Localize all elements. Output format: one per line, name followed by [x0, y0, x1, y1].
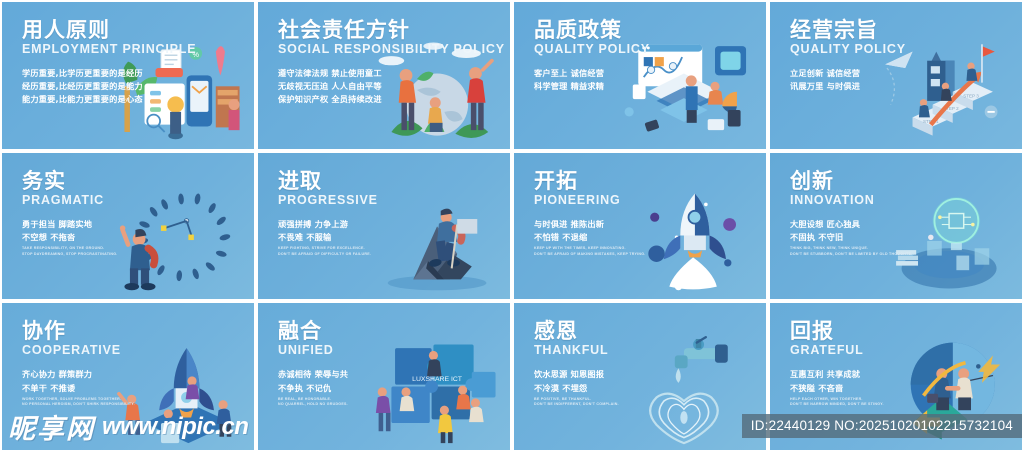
watermark-cn-text: 昵享网 [8, 407, 95, 446]
panel-en-title: COOPERATIVE [22, 344, 135, 358]
panel-cn-title: 经营宗旨 [790, 18, 906, 42]
panel-cn-subtitle: 赤诚相待 荣辱与共 不争执 不记仇 [278, 368, 348, 395]
panel-pragmatic[interactable]: 务实 PRAGMATIC 勇于担当 脚踏实地 不空想 不拖沓 TAKE RESP… [2, 153, 254, 300]
panel-text-block: 回报 GRATEFUL 互惠互利 共享成就 不狭隘 不吝啬 HELP EACH … [790, 319, 884, 408]
panel-social-responsibility-policy[interactable]: 社会责任方针 SOCIAL RESPONSIBILITY POLICY 遵守法律… [258, 2, 510, 149]
panel-cn-title: 务实 [22, 169, 118, 193]
panel-cn-subtitle: 顽强拼搏 力争上游 不畏难 不服输 [278, 218, 378, 245]
panel-cn-title: 融合 [278, 319, 348, 343]
panel-cn-subtitle: 齐心协力 群策群力 不单干 不推诿 [22, 368, 135, 395]
panel-business-purpose[interactable]: 经营宗旨 QUALITY POLICY 立足创新 诚信经营 讯展万里 与时俱进 [770, 2, 1022, 149]
panel-cn-subtitle: 学历重要,比学历更重要的是经历 经历重要,比经历更重要的是能力 能力重要,比能力… [22, 67, 196, 107]
panel-cn-title: 创新 [790, 169, 912, 193]
panel-en-title: QUALITY POLICY [534, 43, 650, 57]
panel-text-block: 务实 PRAGMATIC 勇于担当 脚踏实地 不空想 不拖沓 TAKE RESP… [22, 169, 118, 258]
panel-en-subtitle: HELP EACH OTHER, WIN TOGETHER. DON'T BE … [790, 397, 884, 408]
panel-en-subtitle: THINK BIG, THINK NEW, THINK UNIQUE. DON'… [790, 246, 912, 257]
panel-en-subtitle: KEEP UP WITH THE TIMES, KEEP INNOVATING.… [534, 246, 646, 257]
panel-unified[interactable]: 融合 UNIFIED 赤诚相待 荣辱与共 不争执 不记仇 BE REAL, BE… [258, 303, 510, 450]
panel-cn-title: 回报 [790, 319, 884, 343]
panel-text-block: 感恩 THANKFUL 饮水思源 知恩图报 不冷漠 不埋怨 BE POSITIV… [534, 319, 619, 408]
watermark: 昵享网 www.nipic.cn [8, 407, 248, 446]
panel-cn-title: 品质政策 [534, 18, 650, 42]
panel-cn-title: 开拓 [534, 169, 646, 193]
panel-cn-subtitle: 遵守法律法规 禁止使用童工 无歧视无压迫 人人自由平等 保护知识产权 全员持续改… [278, 67, 505, 107]
panel-text-block: 协作 COOPERATIVE 齐心协力 群策群力 不单干 不推诿 WORK TO… [22, 319, 135, 408]
panel-cn-subtitle: 饮水思源 知恩图报 不冷漠 不埋怨 [534, 368, 619, 395]
panel-en-title: PRAGMATIC [22, 194, 118, 208]
panel-thankful[interactable]: 感恩 THANKFUL 饮水思源 知恩图报 不冷漠 不埋怨 BE POSITIV… [514, 303, 766, 450]
panel-innovation[interactable]: 创新 INNOVATION 大胆设想 匠心独具 不固执 不守旧 THINK BI… [770, 153, 1022, 300]
panel-cn-title: 进取 [278, 169, 378, 193]
panel-cn-subtitle: 客户至上 诚信经营 科学管理 精益求精 [534, 67, 650, 94]
panel-text-block: 用人原则 EMPLOYMENT PRINCIPLE 学历重要,比学历更重要的是经… [22, 18, 196, 109]
panel-text-block: 进取 PROGRESSIVE 顽强拼搏 力争上游 不畏难 不服输 KEEP FI… [278, 169, 378, 258]
panel-quality-policy[interactable]: 品质政策 QUALITY POLICY 客户至上 诚信经营 科学管理 精益求精 [514, 2, 766, 149]
panel-cn-title: 用人原则 [22, 18, 196, 42]
panel-text-block: 开拓 PIONEERING 与时俱进 推陈出新 不怕错 不退缩 KEEP UP … [534, 169, 646, 258]
panel-progressive[interactable]: 进取 PROGRESSIVE 顽强拼搏 力争上游 不畏难 不服输 KEEP FI… [258, 153, 510, 300]
panel-en-title: SOCIAL RESPONSIBILITY POLICY [278, 43, 505, 57]
panel-cn-title: 协作 [22, 319, 135, 343]
panel-text-block: 社会责任方针 SOCIAL RESPONSIBILITY POLICY 遵守法律… [278, 18, 505, 109]
panel-text-block: 融合 UNIFIED 赤诚相待 荣辱与共 不争执 不记仇 BE REAL, BE… [278, 319, 348, 408]
panel-en-title: PROGRESSIVE [278, 194, 378, 208]
panel-en-title: QUALITY POLICY [790, 43, 906, 57]
panel-cn-subtitle: 勇于担当 脚踏实地 不空想 不拖沓 [22, 218, 118, 245]
panel-cn-subtitle: 与时俱进 推陈出新 不怕错 不退缩 [534, 218, 646, 245]
panel-en-title: THANKFUL [534, 344, 619, 358]
mountain-climber-flag-icon [364, 179, 510, 299]
panel-employment-principle[interactable]: 用人原则 EMPLOYMENT PRINCIPLE 学历重要,比学历更重要的是经… [2, 2, 254, 149]
panel-text-block: 品质政策 QUALITY POLICY 客户至上 诚信经营 科学管理 精益求精 [534, 18, 650, 95]
svg-text:STEP 3: STEP 3 [963, 94, 979, 99]
svg-text:STEP 1: STEP 1 [923, 119, 939, 124]
panel-text-block: 经营宗旨 QUALITY POLICY 立足创新 诚信经营 讯展万里 与时俱进 [790, 18, 906, 95]
panel-cn-subtitle: 立足创新 诚信经营 讯展万里 与时俱进 [790, 67, 906, 94]
panel-en-title: GRATEFUL [790, 344, 884, 358]
panel-en-title: PIONEERING [534, 194, 646, 208]
panel-en-title: EMPLOYMENT PRINCIPLE [22, 43, 196, 57]
id-tag: ID:22440129 NO:20251020102215732104 [742, 414, 1022, 438]
panel-pioneering[interactable]: 开拓 PIONEERING 与时俱进 推陈出新 不怕错 不退缩 KEEP UP … [514, 153, 766, 300]
panel-en-subtitle: BE REAL, BE HONORABLE. NO QUARREL, HOLD … [278, 397, 348, 408]
poster-board: 用人原则 EMPLOYMENT PRINCIPLE 学历重要,比学历更重要的是经… [0, 0, 1024, 452]
svg-text:STEP 2: STEP 2 [943, 106, 959, 111]
panel-en-subtitle: KEEP FIGHTING, STRIVE FOR EXCELLENCE. DO… [278, 246, 378, 257]
panel-en-title: INNOVATION [790, 194, 912, 208]
watermark-url-text: www.nipic.cn [102, 413, 248, 441]
panel-en-subtitle: TAKE RESPONSIBILITY, ON THE GROUND. STOP… [22, 246, 118, 257]
panel-cn-subtitle: 互惠互利 共享成就 不狭隘 不吝啬 [790, 368, 884, 395]
panel-cn-subtitle: 大胆设想 匠心独具 不固执 不守旧 [790, 218, 912, 245]
panel-cn-title: 社会责任方针 [278, 18, 505, 42]
panel-text-block: 创新 INNOVATION 大胆设想 匠心独具 不固执 不守旧 THINK BI… [790, 169, 912, 258]
svg-text:LUXSHARE ICT: LUXSHARE ICT [412, 376, 463, 383]
panel-en-title: UNIFIED [278, 344, 348, 358]
puzzle-team-icon: LUXSHARE ICT [364, 330, 510, 450]
walking-footprints-clock-icon [108, 179, 254, 299]
panel-cn-title: 感恩 [534, 319, 619, 343]
panel-en-subtitle: BE POSITIVE, BE THANKFUL. DON'T BE INDIF… [534, 397, 619, 408]
